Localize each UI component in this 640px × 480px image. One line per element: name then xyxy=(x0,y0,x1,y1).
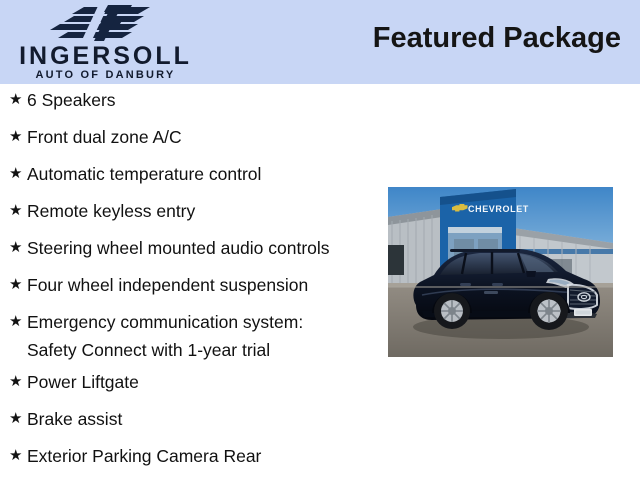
brand-name: INGERSOLL xyxy=(8,43,203,70)
dealer-logo: INGERSOLL AUTO OF DANBURY xyxy=(0,0,210,84)
list-item-label: Four wheel independent suspension xyxy=(27,271,380,299)
list-item-label: Brake assist xyxy=(27,405,380,433)
svg-text:CHEVROLET: CHEVROLET xyxy=(468,204,529,214)
feature-list: ★ 6 Speakers ★ Front dual zone A/C ★ Aut… xyxy=(0,86,380,479)
list-item: ★ Automatic temperature control xyxy=(0,160,380,197)
list-item: ★ 6 Speakers xyxy=(0,86,380,123)
ingersoll-wing-emblem-icon xyxy=(46,3,168,43)
list-item: ★ Power Liftgate xyxy=(0,368,380,405)
list-item: ★ Steering wheel mounted audio controls xyxy=(0,234,380,271)
star-bullet-icon: ★ xyxy=(9,368,27,396)
list-item-label: Steering wheel mounted audio controls xyxy=(27,234,380,262)
list-item: ★ Brake assist xyxy=(0,405,380,442)
brand-subtitle: AUTO OF DANBURY xyxy=(8,69,203,81)
featured-package-slide: INGERSOLL AUTO OF DANBURY Featured Packa… xyxy=(0,0,640,480)
vehicle-photo: CHEVROLET xyxy=(388,187,613,357)
star-bullet-icon: ★ xyxy=(9,160,27,188)
list-item-label: Power Liftgate xyxy=(27,368,380,396)
star-bullet-icon: ★ xyxy=(9,271,27,299)
list-item-label: Automatic temperature control xyxy=(27,160,380,188)
star-bullet-icon: ★ xyxy=(9,405,27,433)
list-item-label: Remote keyless entry xyxy=(27,197,380,225)
list-item-label: 6 Speakers xyxy=(27,86,380,114)
list-item: ★ Four wheel independent suspension xyxy=(0,271,380,308)
list-item: ★ Front dual zone A/C xyxy=(0,123,380,160)
list-item: ★ Exterior Parking Camera Rear xyxy=(0,442,380,479)
list-item: ★ Remote keyless entry xyxy=(0,197,380,234)
list-item-label: Exterior Parking Camera Rear xyxy=(27,442,380,470)
star-bullet-icon: ★ xyxy=(9,86,27,114)
list-item: ★ Emergency communication system: Safety… xyxy=(0,308,380,368)
star-bullet-icon: ★ xyxy=(9,234,27,262)
page-title: Featured Package xyxy=(373,20,621,56)
star-bullet-icon: ★ xyxy=(9,308,27,336)
star-bullet-icon: ★ xyxy=(9,123,27,151)
star-bullet-icon: ★ xyxy=(9,197,27,225)
list-item-label: Emergency communication system: Safety C… xyxy=(27,308,380,364)
list-item-label: Front dual zone A/C xyxy=(27,123,380,151)
star-bullet-icon: ★ xyxy=(9,442,27,470)
header-band: INGERSOLL AUTO OF DANBURY Featured Packa… xyxy=(0,0,640,84)
